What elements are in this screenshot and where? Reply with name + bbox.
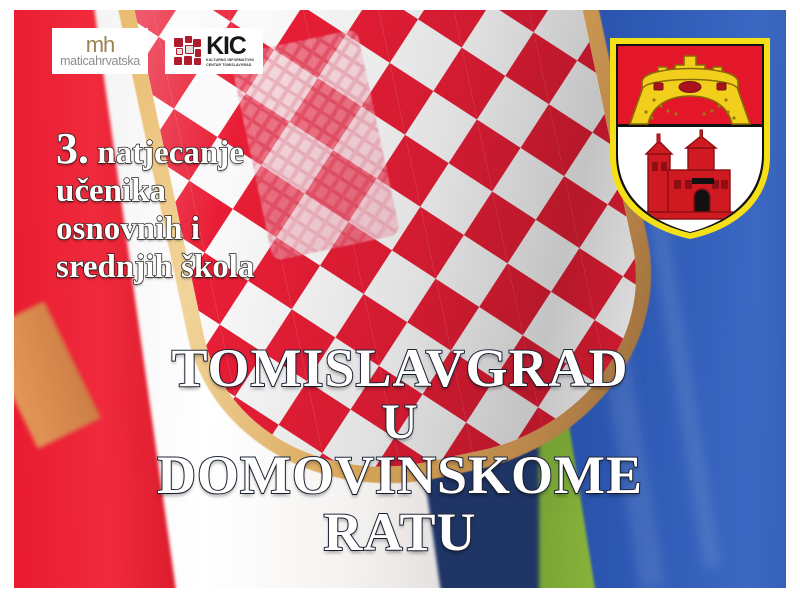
subtitle-line-2: učenika: [56, 172, 386, 210]
poster-subtitle: 3. natjecanje učenika osnovnih i srednji…: [56, 130, 386, 286]
logo-strip: mh maticahrvatska KIC KULTURNO: [52, 28, 263, 74]
subtitle-line-4: srednjih škola: [56, 248, 386, 286]
matica-hrvatska-logo[interactable]: mh maticahrvatska: [52, 28, 148, 74]
kic-logo[interactable]: KIC KULTURNO INFORMATIVNI CENTAR TOMISLA…: [165, 28, 263, 74]
subtitle-line-1: 3. natjecanje: [56, 130, 386, 172]
poster: mh maticahrvatska KIC KULTURNO: [0, 0, 800, 600]
subtitle-line-1-text: natjecanje: [89, 135, 244, 171]
title-line-2: U: [14, 396, 786, 446]
subtitle-line-3: osnovnih i: [56, 210, 386, 248]
kic-blocks-icon: [174, 36, 201, 66]
subtitle-edition-number: 3.: [56, 124, 89, 173]
title-line-3: DOMOVINSKOME: [14, 446, 786, 504]
title-line-1: TOMISLAVGRAD: [14, 340, 786, 396]
poster-canvas: mh maticahrvatska KIC KULTURNO: [14, 10, 786, 588]
poster-title: TOMISLAVGRAD U DOMOVINSKOME RATU: [14, 340, 786, 560]
title-line-4: RATU: [14, 504, 786, 560]
matica-hrvatska-wordmark: maticahrvatska: [60, 54, 140, 68]
tomislavgrad-coat-of-arms: [608, 36, 772, 240]
matica-hrvatska-mark: mh: [86, 35, 115, 54]
kic-subtitle-line2: CENTAR TOMISLAVGRAD: [206, 63, 251, 68]
kic-wordmark: KIC: [206, 35, 245, 58]
kic-text-block: KIC KULTURNO INFORMATIVNI CENTAR TOMISLA…: [206, 35, 254, 67]
